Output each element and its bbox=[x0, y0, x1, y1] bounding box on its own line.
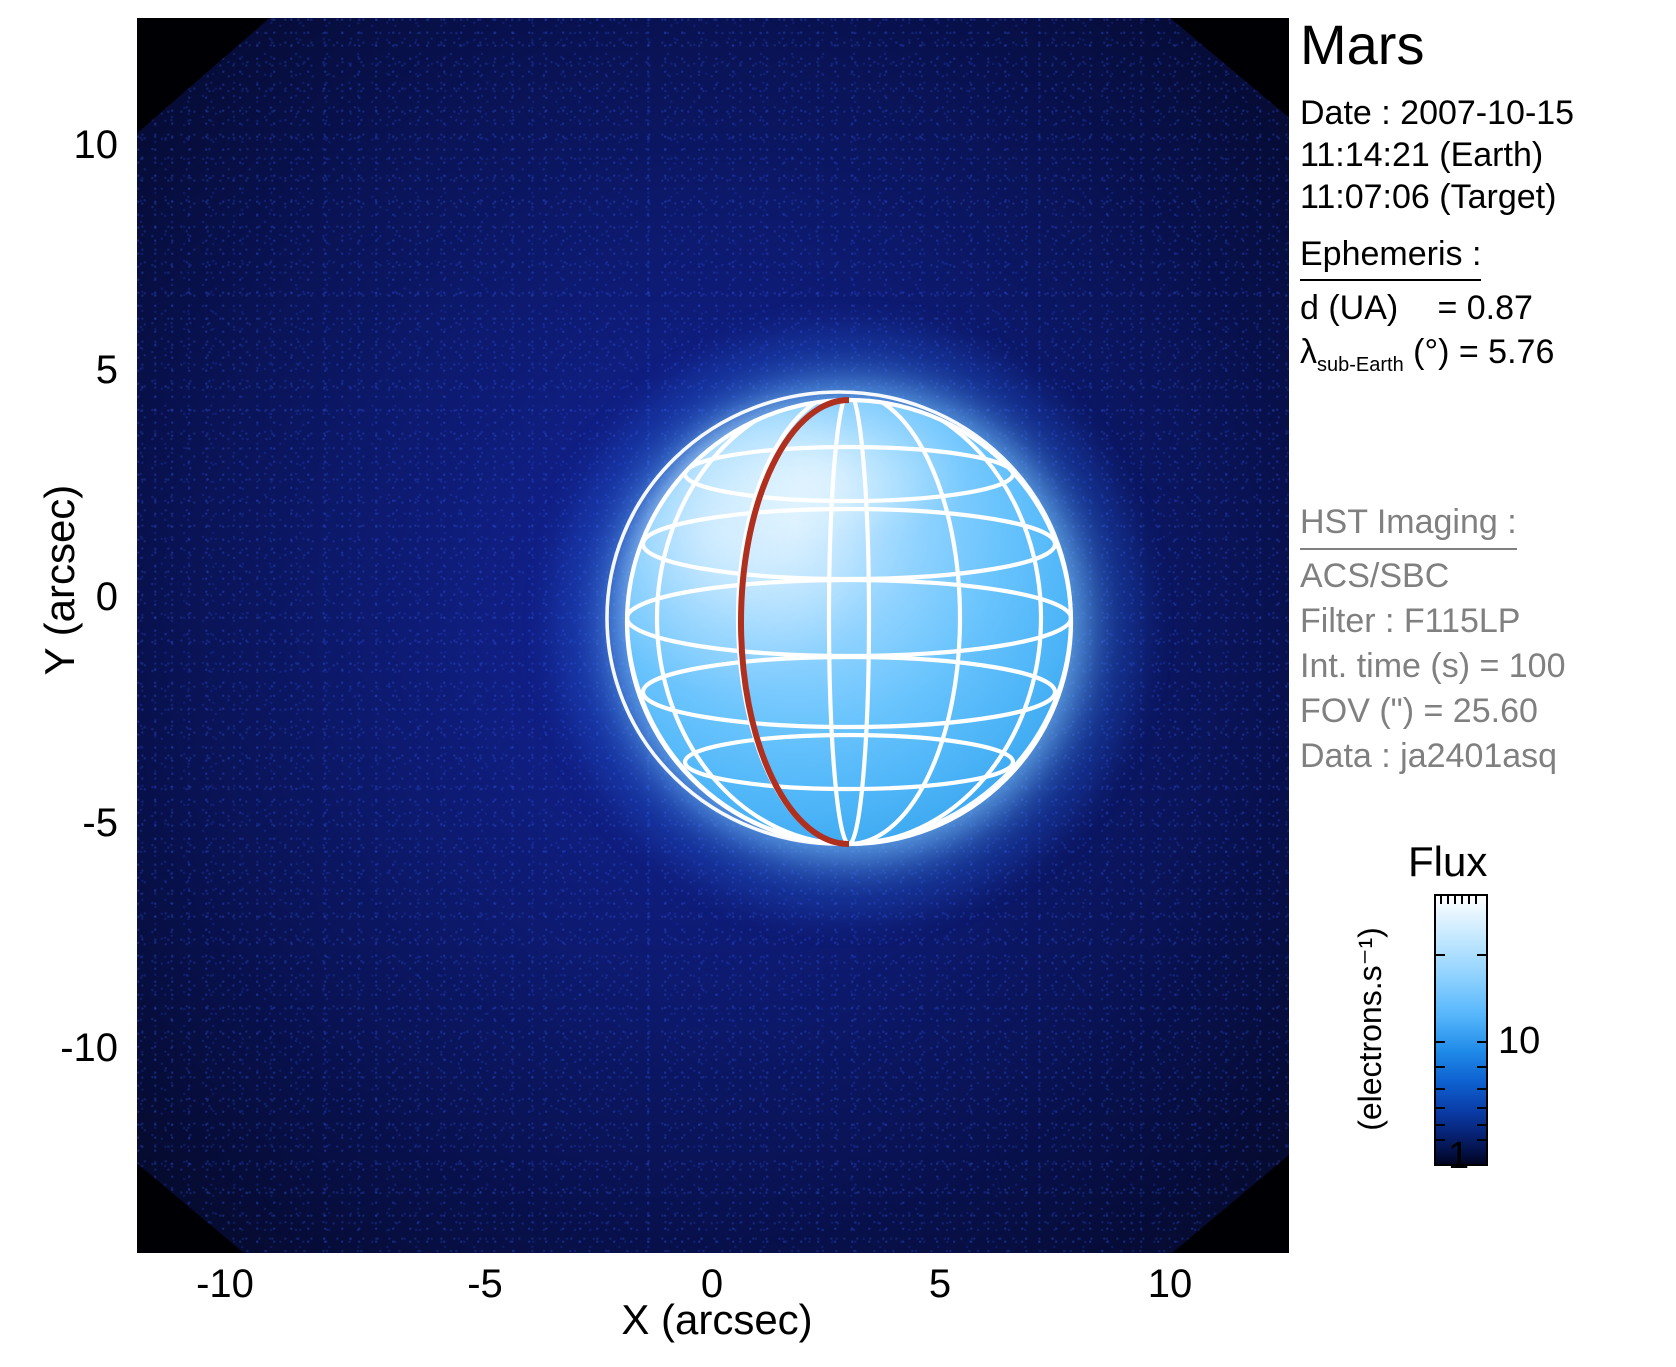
target-time-line: 11:07:06 (Target) bbox=[1300, 176, 1574, 218]
colorbar-axis-label: (electrons.s⁻¹) bbox=[1351, 899, 1389, 1159]
colorbar-minor-tick bbox=[1477, 1088, 1486, 1090]
colorbar-tick-label-10: 10 bbox=[1498, 1020, 1540, 1063]
ephemeris-block: Ephemeris : d (UA) = 0.87 λsub-Earth (°)… bbox=[1300, 232, 1554, 387]
colorbar-minor-tick bbox=[1468, 896, 1470, 904]
hst-filter-line: Filter : F115LP bbox=[1300, 599, 1566, 644]
colorbar-minor-tick bbox=[1477, 1107, 1486, 1109]
y-tick-label: -10 bbox=[8, 1026, 118, 1071]
observation-date-block: Date : 2007-10-15 11:14:21 (Earth) 11:07… bbox=[1300, 92, 1574, 218]
x-tick-label: 5 bbox=[880, 1262, 1000, 1307]
y-axis-title: Y (arcsec) bbox=[36, 450, 84, 710]
ephemeris-row-sub-earth-longitude: λsub-Earth (°) = 5.76 bbox=[1300, 330, 1554, 387]
date-label: Date : bbox=[1300, 94, 1391, 132]
colorbar-minor-tick bbox=[1436, 1107, 1445, 1109]
y-tick-label: 10 bbox=[30, 123, 118, 168]
colorbar-minor-tick bbox=[1477, 1124, 1486, 1126]
date-value: 2007-10-15 bbox=[1400, 94, 1574, 132]
x-tick-label: -5 bbox=[425, 1262, 545, 1307]
colorbar-minor-tick bbox=[1436, 1088, 1445, 1090]
hst-imaging-block: HST Imaging : ACS/SBC Filter : F115LP In… bbox=[1300, 500, 1566, 779]
colorbar-title: Flux bbox=[1408, 838, 1487, 886]
lambda-subscript: sub-Earth bbox=[1317, 354, 1404, 376]
colorbar-minor-tick bbox=[1447, 896, 1449, 904]
ephemeris-value: = 0.87 bbox=[1437, 289, 1532, 327]
degree-unit: (°) bbox=[1413, 333, 1449, 371]
hst-imaging-heading: HST Imaging : bbox=[1300, 500, 1517, 550]
colorbar-major-tick bbox=[1477, 1041, 1486, 1043]
colorbar-minor-tick bbox=[1436, 954, 1445, 956]
hst-integration-time-line: Int. time (s) = 100 bbox=[1300, 644, 1566, 689]
colorbar-minor-tick bbox=[1461, 896, 1463, 904]
ephemeris-key: d (UA) bbox=[1300, 286, 1428, 330]
earth-time-line: 11:14:21 (Earth) bbox=[1300, 134, 1574, 176]
colorbar-minor-tick bbox=[1477, 954, 1486, 956]
ephemeris-heading: Ephemeris : bbox=[1300, 232, 1481, 281]
colorbar-minor-tick bbox=[1436, 1139, 1445, 1141]
y-tick-label: 5 bbox=[30, 348, 118, 393]
y-tick-label: -5 bbox=[22, 801, 118, 846]
ephemeris-row-distance: d (UA) = 0.87 bbox=[1300, 286, 1554, 330]
colorbar-minor-tick bbox=[1477, 1139, 1486, 1141]
colorbar-major-tick bbox=[1436, 1041, 1445, 1043]
latitude-longitude-graticule bbox=[599, 372, 1099, 872]
colorbar-minor-tick bbox=[1440, 896, 1442, 904]
colorbar-minor-tick bbox=[1436, 1066, 1445, 1068]
x-tick-label: -10 bbox=[165, 1262, 285, 1307]
flux-colorbar bbox=[1434, 894, 1488, 1166]
colorbar-tick-label-1: 1 bbox=[1448, 1135, 1469, 1178]
colorbar-minor-tick bbox=[1436, 1124, 1445, 1126]
hst-dataset-line: Data : ja2401asq bbox=[1300, 734, 1566, 779]
ephemeris-value: = 5.76 bbox=[1459, 333, 1554, 371]
colorbar-minor-tick bbox=[1454, 896, 1456, 904]
hst-fov-line: FOV (") = 25.60 bbox=[1300, 689, 1566, 734]
hst-instrument-line: ACS/SBC bbox=[1300, 554, 1566, 599]
colorbar-minor-tick bbox=[1475, 896, 1477, 904]
info-sidebar: Mars Date : 2007-10-15 11:14:21 (Earth) … bbox=[1300, 0, 1676, 1367]
x-axis-title: X (arcsec) bbox=[537, 1296, 897, 1344]
x-tick-label: 10 bbox=[1110, 1262, 1230, 1307]
date-line: Date : 2007-10-15 bbox=[1300, 92, 1574, 134]
mars-image-panel bbox=[137, 18, 1289, 1253]
target-title: Mars bbox=[1300, 12, 1424, 77]
colorbar-minor-tick bbox=[1477, 1066, 1486, 1068]
lambda-symbol: λ bbox=[1300, 333, 1317, 371]
